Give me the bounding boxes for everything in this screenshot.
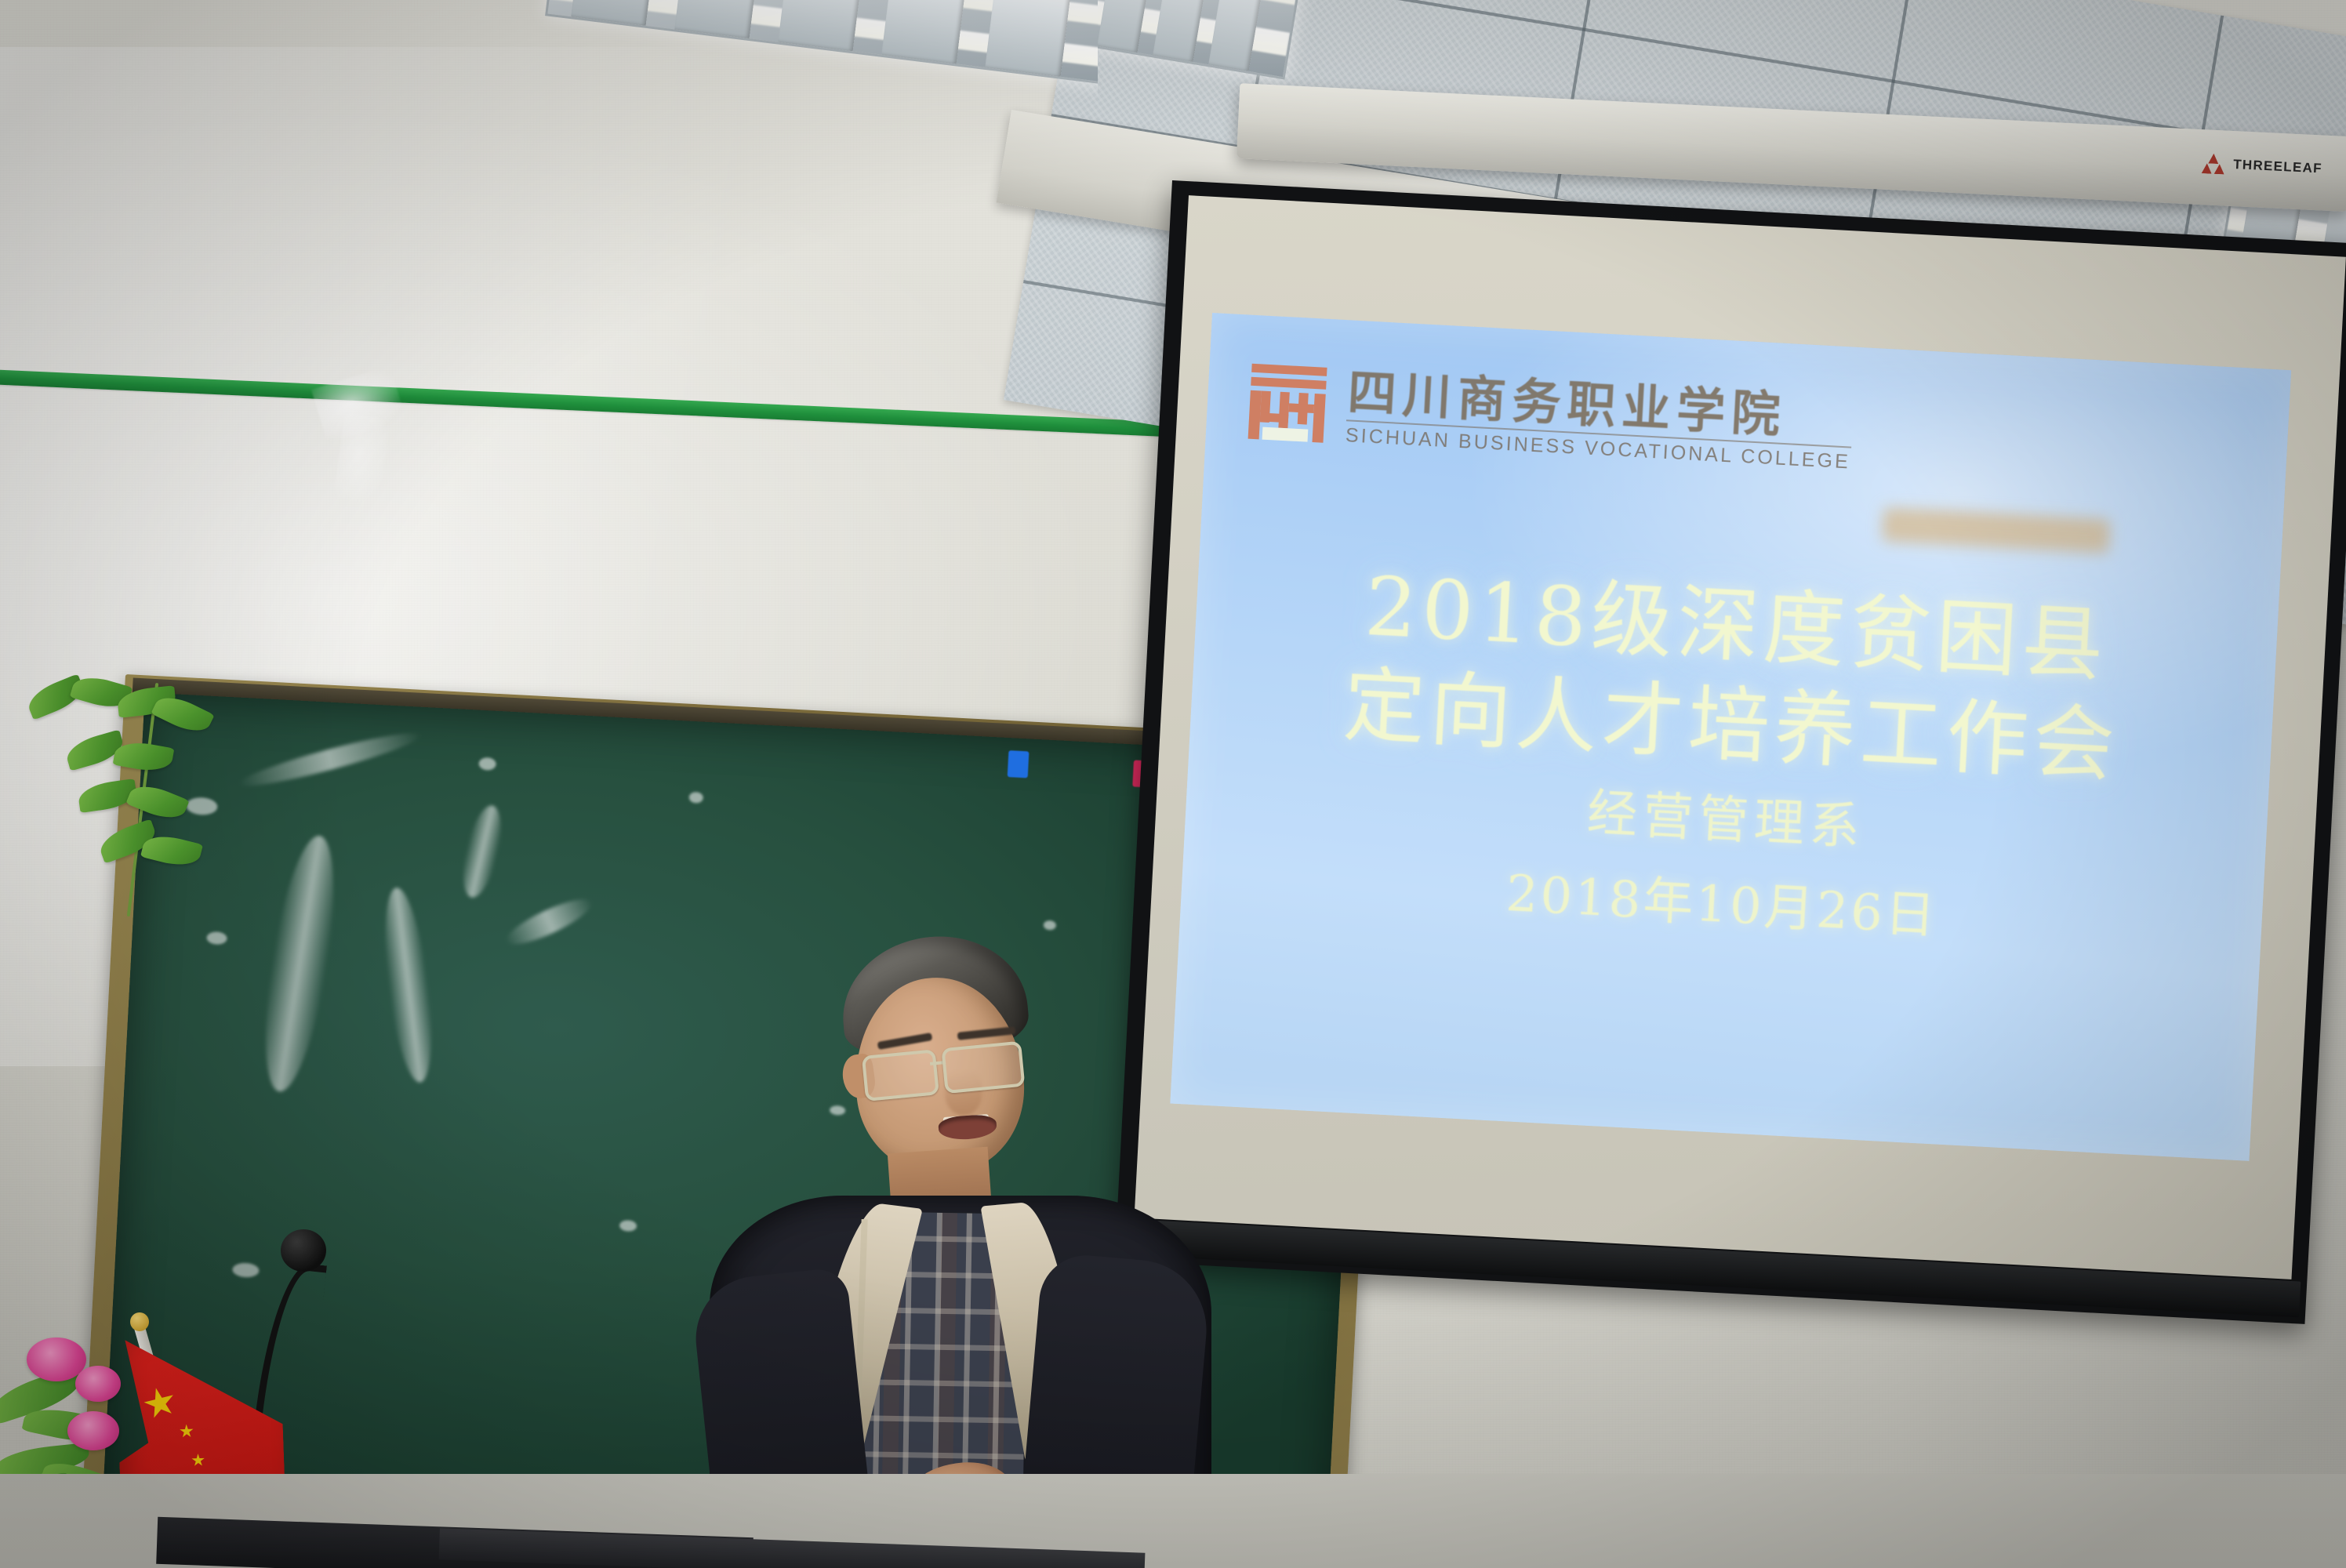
flower-bloom: [67, 1411, 119, 1450]
flag-finial-knob: [130, 1312, 149, 1331]
microphone-head-icon: [281, 1229, 326, 1272]
projector-brand-badge: THREELEAF: [2202, 153, 2323, 179]
projector-brand-text: THREELEAF: [2233, 157, 2323, 176]
eyeglass-lens-right: [941, 1041, 1025, 1094]
three-diamond-icon: [2202, 153, 2226, 174]
projected-slide: 四川商务职业学院 SICHUAN BUSINESS VOCATIONAL COL…: [1170, 313, 2291, 1161]
flag-star-small: [191, 1454, 205, 1468]
college-emblem-icon: [1243, 358, 1332, 448]
recessed-fluorescent-troffer: [545, 0, 1098, 87]
flag-star-small: [180, 1424, 194, 1439]
climbing-vine-plant: [24, 651, 274, 964]
projection-screen-assembly: THREELEAF: [1115, 180, 2346, 1324]
flower-bloom: [75, 1366, 121, 1402]
classroom-photo-scene: THREELEAF: [0, 0, 2346, 1568]
projection-screen-canvas: 四川商务职业学院 SICHUAN BUSINESS VOCATIONAL COL…: [1135, 195, 2346, 1279]
ceiling-left-region: [0, 0, 1098, 204]
flag-star-large: [140, 1385, 178, 1422]
eyeglass-lens-left: [862, 1049, 939, 1102]
blue-magnet-clip: [1008, 750, 1030, 778]
